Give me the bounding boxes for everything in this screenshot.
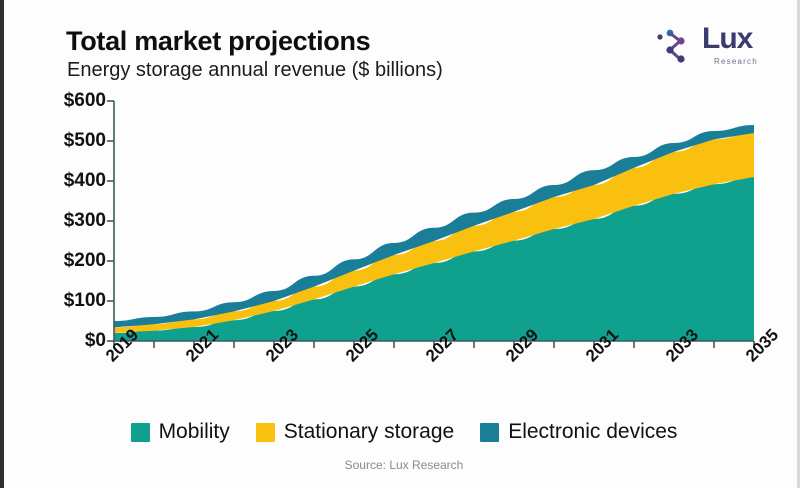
logo-tagline: Research — [714, 57, 758, 66]
y-axis-labels: $0$100$200$300$400$500$600 — [4, 101, 106, 341]
legend-swatch-icon — [480, 423, 499, 442]
lux-research-logo: Lux Research — [654, 26, 774, 70]
legend-label: Mobility — [159, 420, 230, 444]
chart-card: Total market projections Energy storage … — [0, 0, 800, 488]
lux-molecule-icon — [654, 28, 700, 73]
chart-plot-area — [114, 101, 754, 351]
y-axis-tick-label: $600 — [64, 90, 106, 112]
y-axis-tick-label: $400 — [64, 170, 106, 192]
y-axis-tick-label: $500 — [64, 130, 106, 152]
y-axis-tick-label: $300 — [64, 210, 106, 232]
legend-swatch-icon — [131, 423, 150, 442]
logo-wordmark: Lux — [702, 24, 752, 54]
y-axis-tick-label: $100 — [64, 290, 106, 312]
legend-item-stationary-storage[interactable]: Stationary storage — [256, 420, 454, 444]
legend-item-electronic-devices[interactable]: Electronic devices — [480, 420, 677, 444]
legend-item-mobility[interactable]: Mobility — [131, 420, 230, 444]
x-axis-labels: 201920212023202520272029203120332035 — [4, 348, 800, 408]
y-axis-tick-label: $200 — [64, 250, 106, 272]
legend-label: Electronic devices — [508, 420, 677, 444]
legend-swatch-icon — [256, 423, 275, 442]
page-title: Total market projections — [66, 26, 370, 57]
stacked-area-chart — [114, 101, 754, 341]
chart-subtitle: Energy storage annual revenue ($ billion… — [67, 59, 443, 82]
legend-label: Stationary storage — [284, 420, 454, 444]
source-note: Source: Lux Research — [4, 458, 800, 472]
chart-legend: MobilityStationary storageElectronic dev… — [4, 420, 800, 444]
